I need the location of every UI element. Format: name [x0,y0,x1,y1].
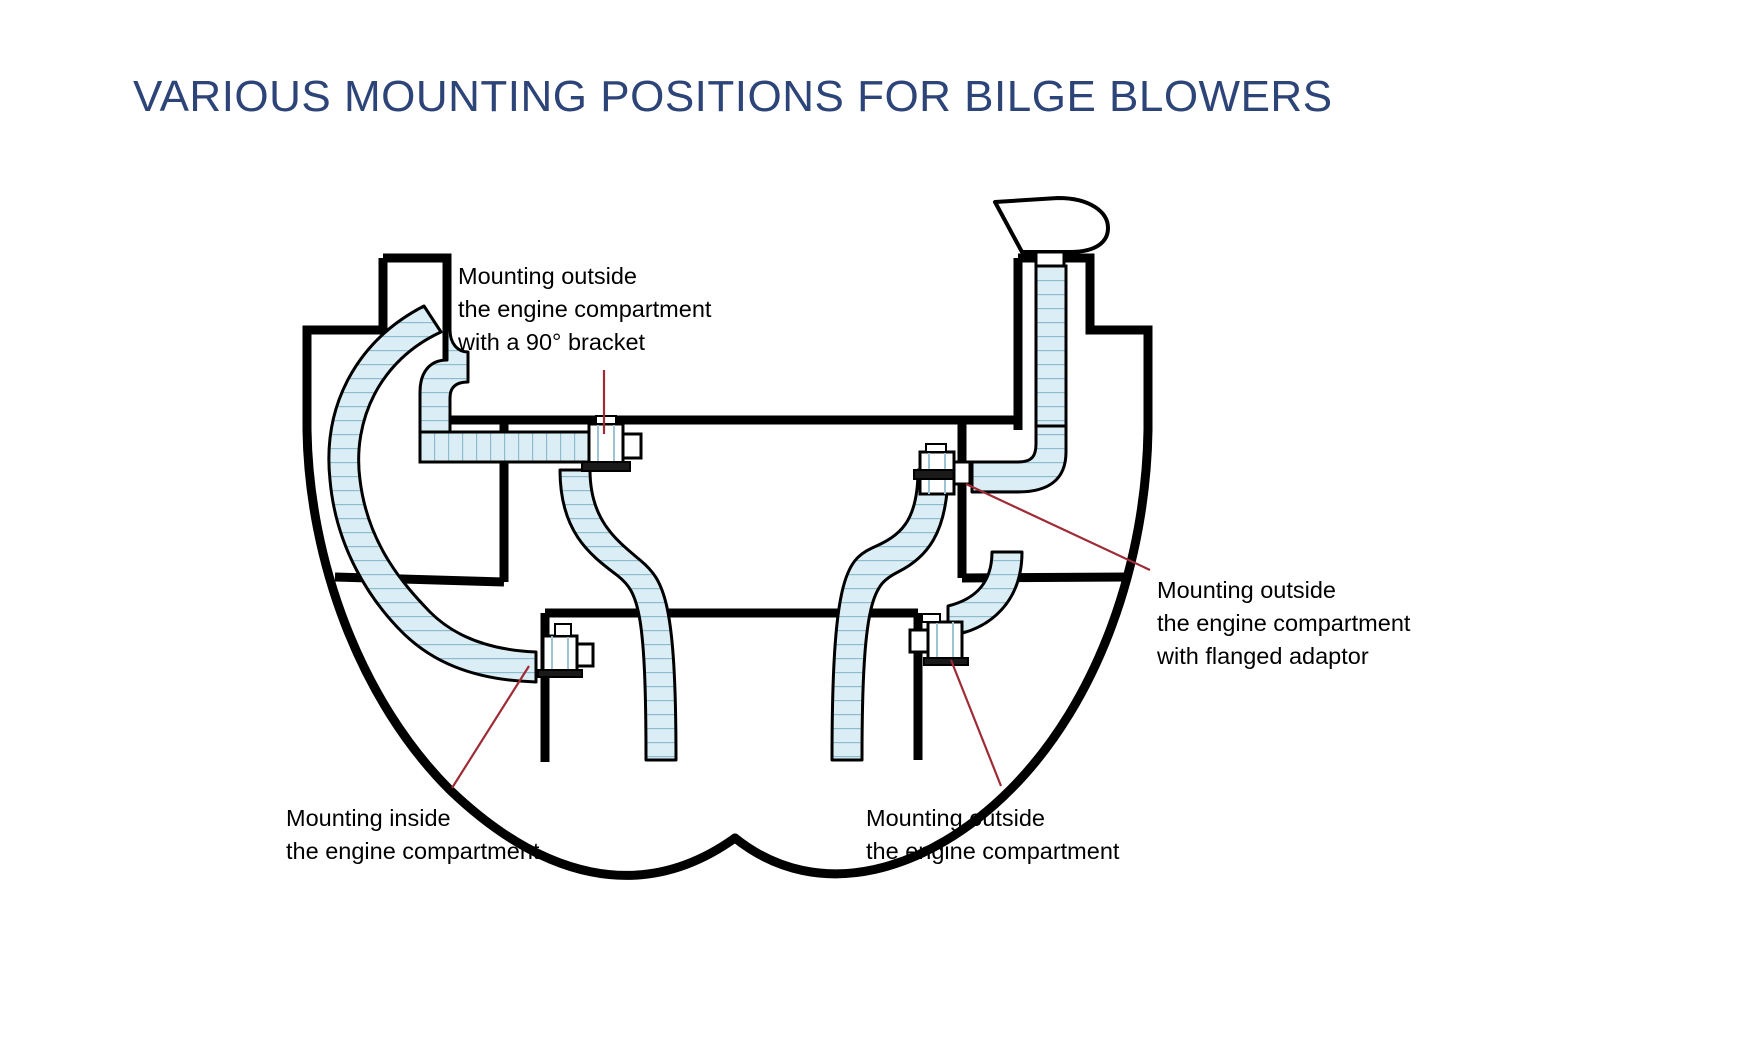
callout-mounting-outside-flanged-adaptor: Mounting outside the engine compartment … [1157,574,1410,673]
callout-line: Mounting outside [1157,574,1410,607]
callout-line: Mounting inside [286,802,539,835]
callout-mounting-outside-90-bracket: Mounting outside the engine compartment … [458,260,711,359]
callout-line: Mounting outside [458,260,711,293]
callout-line: with a 90° bracket [458,326,711,359]
callout-line: Mounting outside [866,802,1119,835]
bilge-blower-schematic [0,0,1753,1057]
leader-line-inside [452,666,529,788]
callout-line: with flanged adaptor [1157,640,1410,673]
callout-mounting-outside: Mounting outside the engine compartment [866,802,1119,868]
callout-line: the engine compartment [866,835,1119,868]
callout-line: the engine compartment [458,293,711,326]
callout-mounting-inside: Mounting inside the engine compartment [286,802,539,868]
callout-line: the engine compartment [1157,607,1410,640]
callout-line: the engine compartment [286,835,539,868]
leader-line-outside [951,660,1001,786]
diagram-canvas: VARIOUS MOUNTING POSITIONS FOR BILGE BLO… [0,0,1753,1057]
